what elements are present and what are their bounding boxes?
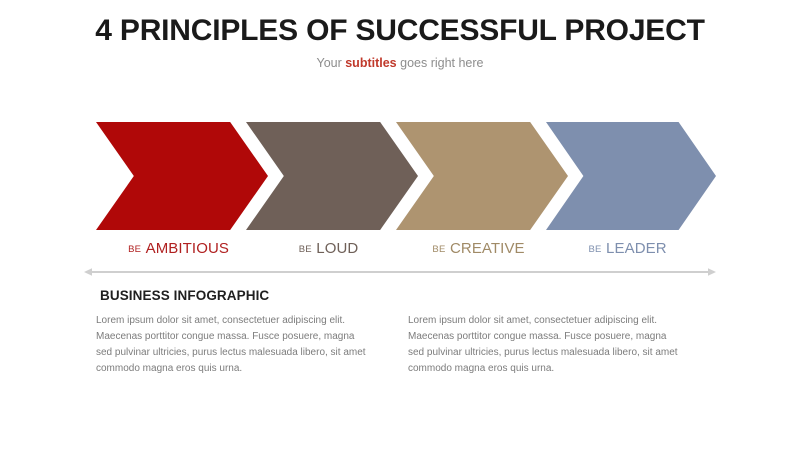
step-label-3: BE CREATIVE	[399, 241, 559, 257]
chevron-process-band	[96, 122, 716, 230]
step-label-row: BE AMBITIOUS BE LOUD BE CREATIVE BE LEAD…	[96, 241, 716, 261]
body-columns: Lorem ipsum dolor sit amet, consectetuer…	[96, 313, 704, 378]
body-paragraph-right: Lorem ipsum dolor sit amet, consectetuer…	[408, 313, 680, 378]
body-paragraph-left: Lorem ipsum dolor sit amet, consectetuer…	[96, 313, 368, 378]
step-label-prefix: BE	[299, 244, 312, 255]
chevron-step-1[interactable]	[96, 122, 268, 230]
subtitle-suffix: goes right here	[397, 56, 484, 70]
body-content: BUSINESS INFOGRAPHIC Lorem ipsum dolor s…	[96, 289, 704, 378]
page-title: 4 PRINCIPLES OF SUCCESSFUL PROJECT	[0, 14, 800, 47]
subtitle-accent: subtitles	[345, 56, 396, 70]
timeline-rule	[84, 265, 716, 279]
chevron-step-4[interactable]	[546, 122, 716, 230]
subtitle-prefix: Your	[317, 56, 346, 70]
slide-canvas: 4 PRINCIPLES OF SUCCESSFUL PROJECT Your …	[0, 0, 800, 450]
step-label-word: LEADER	[606, 240, 667, 257]
step-label-word: CREATIVE	[450, 240, 525, 257]
body-heading: BUSINESS INFOGRAPHIC	[100, 289, 704, 304]
slide-subtitle: Your subtitles goes right here	[0, 56, 800, 70]
chevron-step-2[interactable]	[246, 122, 418, 230]
step-label-1: BE AMBITIOUS	[99, 241, 259, 257]
step-label-prefix: BE	[432, 244, 445, 255]
chevron-step-3[interactable]	[396, 122, 568, 230]
step-label-4: BE LEADER	[548, 241, 708, 257]
slide-header: 4 PRINCIPLES OF SUCCESSFUL PROJECT Your …	[0, 14, 800, 70]
step-label-2: BE LOUD	[249, 241, 409, 257]
double-headed-arrow-icon	[84, 265, 716, 279]
body-column-right: Lorem ipsum dolor sit amet, consectetuer…	[408, 313, 680, 378]
step-label-prefix: BE	[589, 244, 602, 255]
step-label-prefix: BE	[128, 244, 141, 255]
step-label-word: LOUD	[316, 240, 358, 257]
step-label-word: AMBITIOUS	[146, 240, 229, 257]
body-column-left: Lorem ipsum dolor sit amet, consectetuer…	[96, 313, 368, 378]
